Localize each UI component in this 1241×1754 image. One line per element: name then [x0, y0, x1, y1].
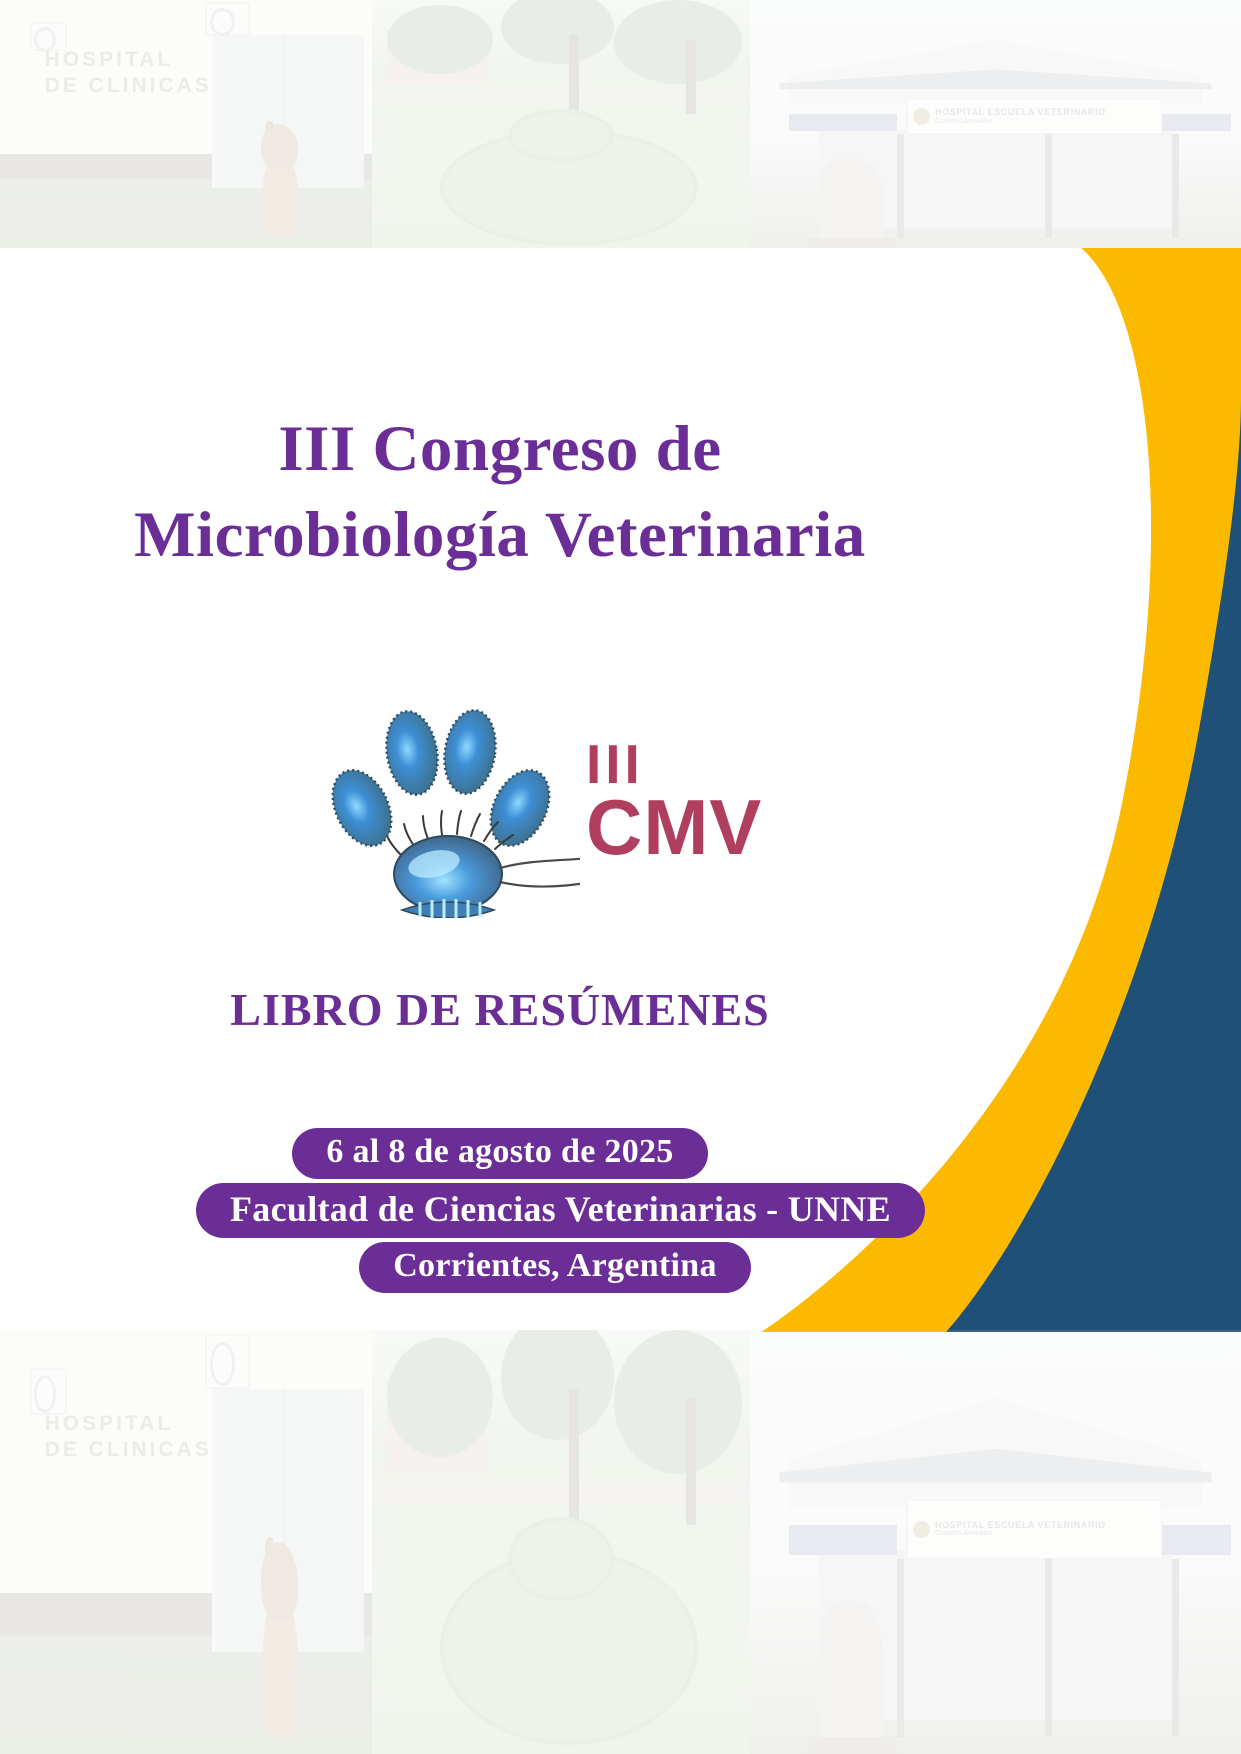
dog-figure	[253, 124, 309, 238]
dog-ear	[265, 1537, 273, 1554]
horse-statue	[819, 159, 883, 243]
dog-figure	[253, 1542, 309, 1737]
top-photo-strip: HOSPITAL DE CLINICAS	[0, 0, 1241, 248]
institutional-seal-icon	[913, 108, 930, 125]
bacteria-toe	[439, 707, 502, 798]
hospital-sign-text: HOSPITAL DE CLINICAS	[45, 47, 212, 100]
support-post	[897, 1559, 904, 1737]
congress-logo: III CMV	[330, 678, 750, 918]
horse-statue	[819, 1601, 883, 1745]
air-conditioner-icon	[205, 2, 250, 36]
tree-canopy	[614, 1330, 743, 1474]
sign-line-2: Grandes Animales	[935, 118, 1106, 126]
hospital-escuela-veterinario-photo: HOSPITAL ESCUELA VETERINARIO Grandes Ani…	[750, 0, 1241, 248]
support-post	[1045, 134, 1052, 238]
event-details: 6 al 8 de agosto de 2025 Facultad de Cie…	[0, 1128, 1000, 1297]
campus-garden-photo	[372, 0, 750, 248]
flagella	[500, 850, 580, 887]
support-post	[897, 134, 904, 238]
dog-ear	[265, 121, 273, 131]
bacterial-paw-print-logo	[330, 678, 580, 918]
sign-line-2: Grandes Animales	[935, 1530, 1106, 1538]
support-post	[1172, 1559, 1179, 1737]
congress-cover-page: HOSPITAL DE CLINICAS	[0, 0, 1241, 1754]
pill-row: Facultad de Ciencias Veterinarias - UNNE	[0, 1183, 1000, 1238]
hospital-escuela-veterinario-photo: HOSPITAL ESCUELA VETERINARIO Grandes Ani…	[750, 1330, 1241, 1754]
sign-line-1: HOSPITAL	[45, 1411, 212, 1437]
cover-content: III Congreso de Microbiología Veterinari…	[0, 248, 1241, 1332]
institutional-seal-icon	[913, 1521, 930, 1538]
title-line-1: III Congreso de	[0, 406, 1000, 492]
veterinary-hospital-sign: HOSPITAL ESCUELA VETERINARIO Grandes Ani…	[907, 1500, 1162, 1559]
air-conditioner-icon	[30, 1368, 67, 1414]
hospital-de-clinicas-photo: HOSPITAL DE CLINICAS	[0, 1330, 372, 1754]
pill-row: Corrientes, Argentina	[0, 1242, 1000, 1293]
awning	[789, 1525, 897, 1555]
tree-canopy	[387, 1338, 493, 1457]
hospital-de-clinicas-photo: HOSPITAL DE CLINICAS	[0, 0, 372, 248]
sign-line-1: HOSPITAL ESCUELA VETERINARIO	[935, 1520, 1106, 1530]
dog-head	[261, 124, 298, 170]
sign-line-2: DE CLINICAS	[45, 73, 212, 99]
event-date-badge: 6 al 8 de agosto de 2025	[292, 1128, 707, 1179]
bacteria-toe	[330, 761, 403, 856]
support-post	[1045, 1559, 1052, 1737]
bacteria-toe	[381, 708, 444, 799]
logo-acronym-line-2: CMV	[586, 790, 762, 864]
tree-trunk	[569, 1389, 579, 1533]
tree-canopy	[387, 5, 493, 74]
awning	[789, 114, 897, 131]
sign-line-1: HOSPITAL ESCUELA VETERINARIO	[935, 107, 1106, 117]
tree-trunk	[569, 35, 579, 119]
sign-line-2: DE CLINICAS	[45, 1437, 212, 1463]
air-conditioner-icon	[205, 1334, 250, 1389]
logo-acronym: III CMV	[586, 738, 762, 864]
tree-canopy	[614, 0, 743, 84]
subtitle: LIBRO DE RESÚMENES	[0, 983, 1000, 1036]
pill-row: 6 al 8 de agosto de 2025	[0, 1128, 1000, 1179]
hospital-sign-text: HOSPITAL DE CLINICAS	[45, 1411, 212, 1464]
tree-trunk	[686, 40, 696, 114]
event-location-badge: Corrientes, Argentina	[359, 1242, 751, 1293]
dog-head	[261, 1542, 298, 1620]
title-line-2: Microbiología Veterinaria	[0, 492, 1000, 578]
sign-text: HOSPITAL ESCUELA VETERINARIO Grandes Ani…	[935, 1520, 1106, 1538]
hedge-center	[508, 109, 614, 162]
veterinary-hospital-sign: HOSPITAL ESCUELA VETERINARIO Grandes Ani…	[907, 99, 1162, 134]
sign-line-1: HOSPITAL	[45, 47, 212, 73]
tree-trunk	[686, 1398, 696, 1525]
event-venue-badge: Facultad de Ciencias Veterinarias - UNNE	[196, 1183, 925, 1238]
bottom-photo-strip: HOSPITAL DE CLINICAS	[0, 1330, 1241, 1754]
support-post	[1172, 134, 1179, 238]
hedge-center	[508, 1517, 614, 1601]
page-title: III Congreso de Microbiología Veterinari…	[0, 406, 1000, 579]
bacteria-pad	[388, 811, 580, 912]
campus-garden-photo	[372, 1330, 750, 1754]
sign-text: HOSPITAL ESCUELA VETERINARIO Grandes Ani…	[935, 107, 1106, 125]
bacteria-toe	[479, 761, 561, 856]
